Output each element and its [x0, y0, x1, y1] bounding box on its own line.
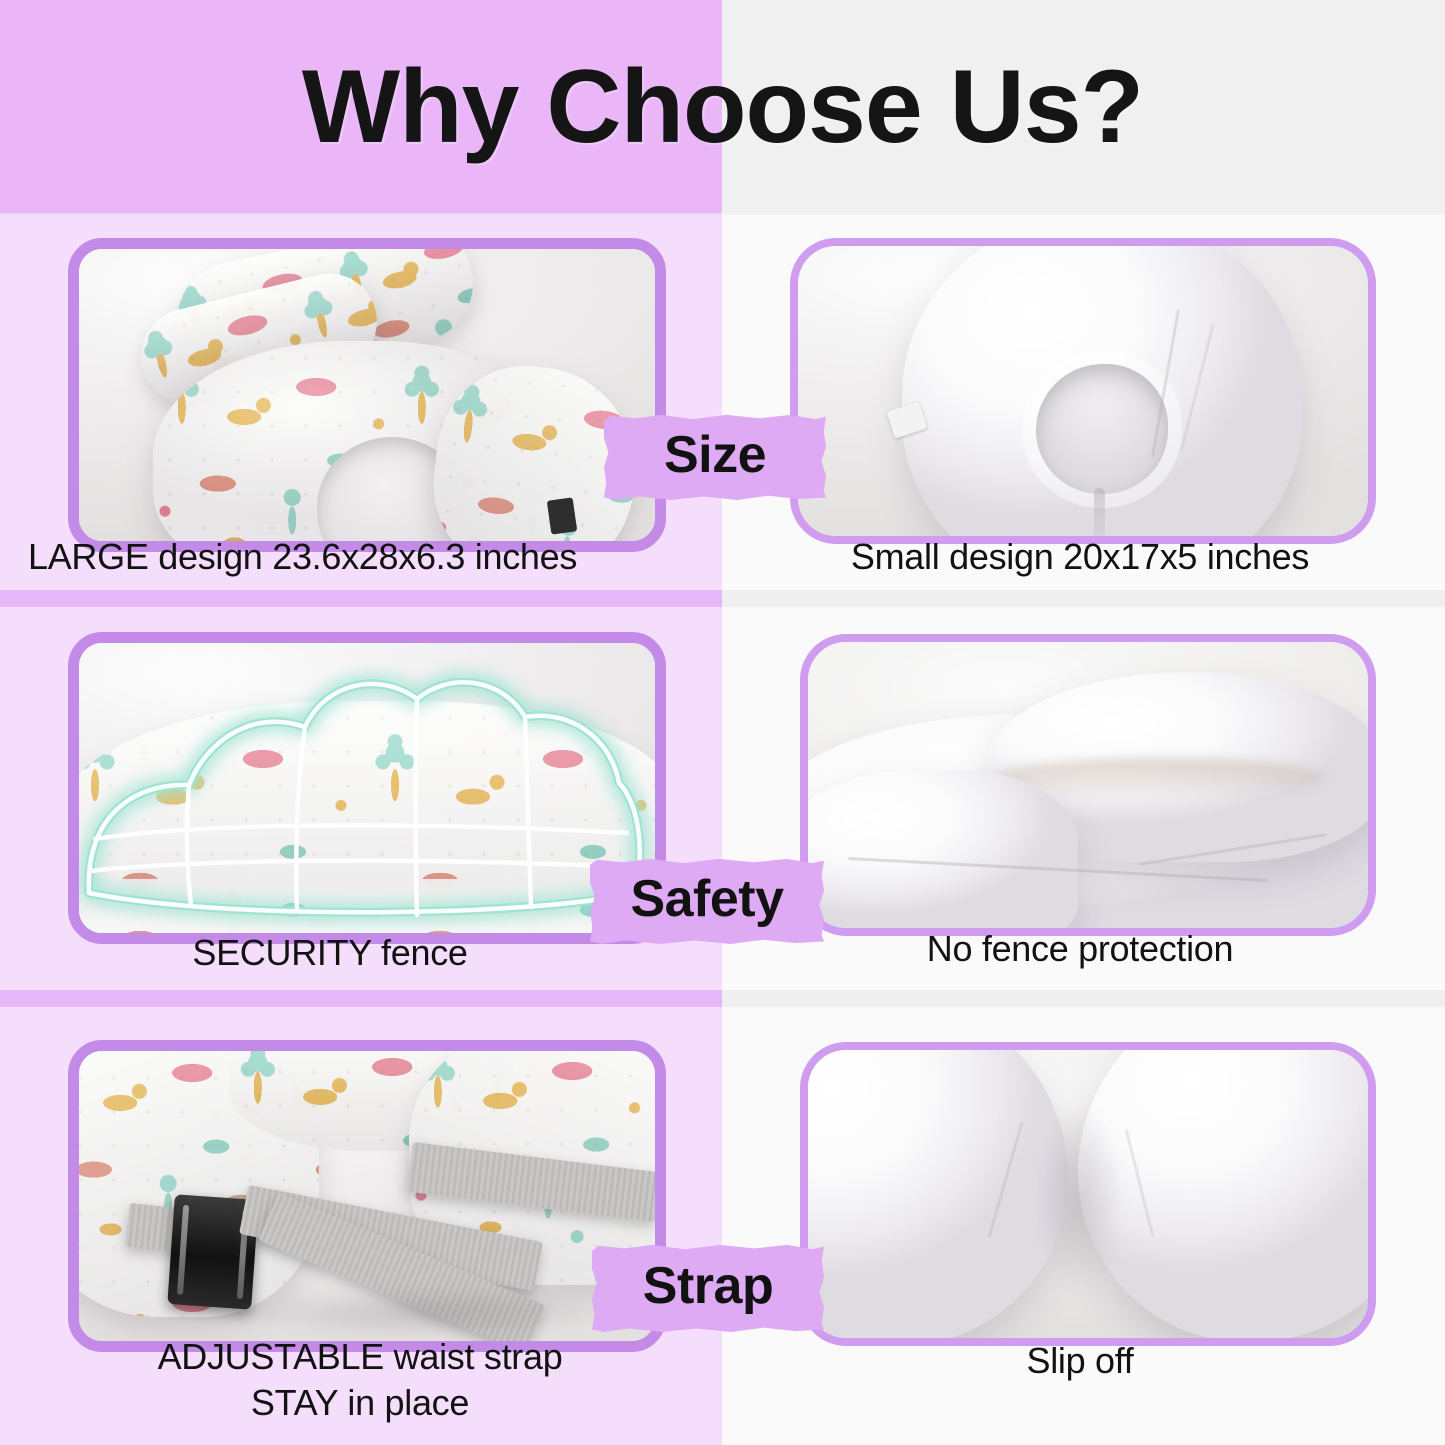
row-1-caption-right: Small design 20x17x5 inches: [760, 534, 1400, 580]
row-separator-2-right: [722, 990, 1445, 1007]
row-3-caption-right: Slip off: [800, 1338, 1360, 1384]
badge-strap: Strap: [592, 1244, 824, 1332]
row-3-caption-left-line2: STAY in place: [70, 1380, 650, 1426]
row-2-caption-right: No fence protection: [800, 926, 1360, 972]
security-fence-overlay: [79, 643, 655, 933]
row-1-image-right: [790, 238, 1376, 544]
row-separator-1-right: [722, 590, 1445, 607]
row-1-image-left: [68, 238, 666, 552]
row-separator-1-left: [0, 590, 722, 607]
row-2-caption-left: SECURITY fence: [70, 930, 590, 976]
row-2-image-right: [800, 634, 1376, 936]
row-2-image-left: [68, 632, 666, 944]
row-3-caption-left-line1: ADJUSTABLE waist strap: [70, 1334, 650, 1380]
row-3-caption-left: ADJUSTABLE waist strap STAY in place: [70, 1334, 650, 1426]
row-3-image-right: [800, 1042, 1376, 1346]
infographic-sheet: Why Choose Us?: [0, 0, 1445, 1445]
badge-size-label: Size: [664, 425, 766, 485]
header-seam: [0, 213, 1445, 215]
badge-safety: Safety: [590, 858, 824, 944]
row-1-caption-left: LARGE design 23.6x28x6.3 inches: [28, 534, 708, 580]
badge-safety-label: Safety: [630, 869, 783, 929]
badge-size: Size: [604, 414, 826, 500]
row-separator-2-left: [0, 990, 722, 1007]
page-title: Why Choose Us?: [0, 0, 1445, 213]
row-3-image-left: [68, 1040, 666, 1352]
badge-strap-label: Strap: [643, 1256, 773, 1316]
